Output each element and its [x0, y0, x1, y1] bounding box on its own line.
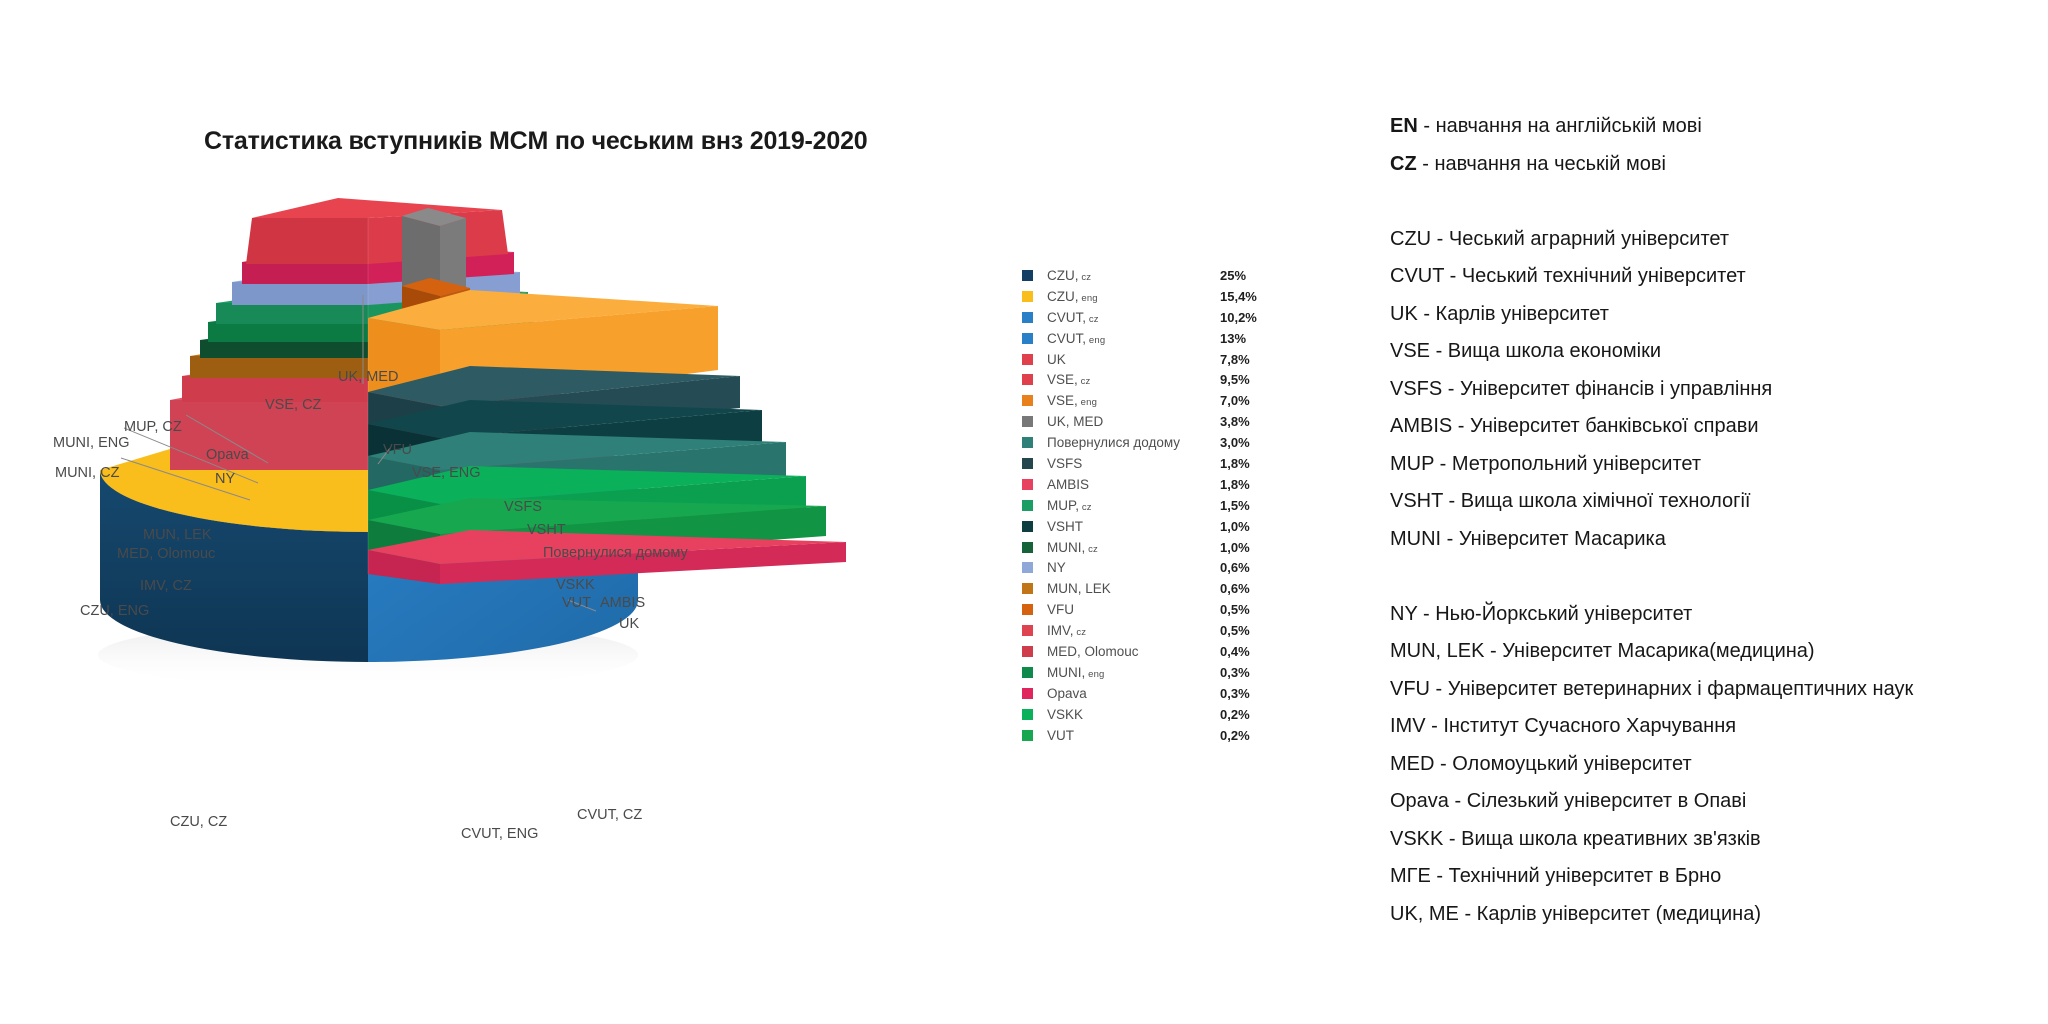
legend-label-suffix: eng	[1079, 293, 1098, 304]
legend-label: VUT	[1047, 728, 1220, 743]
abbreviation-line: CZ - навчання на чеській мові	[1390, 146, 2030, 184]
legend-label: Повернулися додому	[1047, 435, 1220, 450]
callout-label: UK, MED	[338, 370, 398, 385]
legend-value: 0,2%	[1220, 728, 1272, 743]
abbreviation-line: NY - Нью-Йоркський університет	[1390, 596, 2030, 634]
legend-value: 0,4%	[1220, 644, 1272, 659]
abbreviation-line: VSE - Вища школа економіки	[1390, 333, 2030, 371]
abbreviation-line: VSKK - Вища школа креативних зв'язків	[1390, 821, 2030, 859]
legend-label: VSKK	[1047, 707, 1220, 722]
legend-value: 0,3%	[1220, 686, 1272, 701]
legend-color-swatch	[1022, 395, 1033, 406]
legend-label: VSE, eng	[1047, 393, 1220, 408]
callout-label: MED, Olomouc	[117, 547, 215, 562]
callout-label: Opava	[206, 448, 249, 463]
abbreviation-key: CZ	[1390, 153, 1417, 175]
legend-row[interactable]: VSHT1,0%	[1022, 516, 1272, 537]
legend-label-suffix: eng	[1078, 397, 1097, 408]
abbreviation-line: Opava - Сілезький університет в Опаві	[1390, 783, 2030, 821]
legend-label: NY	[1047, 560, 1220, 575]
callout-label: CVUT, CZ	[577, 808, 642, 823]
legend-value: 0,6%	[1220, 560, 1272, 575]
legend-color-swatch	[1022, 688, 1033, 699]
legend-color-swatch	[1022, 479, 1033, 490]
legend-label: CVUT, cz	[1047, 310, 1220, 325]
legend-value: 10,2%	[1220, 310, 1272, 325]
legend-row[interactable]: VSE, cz9,5%	[1022, 369, 1272, 390]
legend-color-swatch	[1022, 604, 1033, 615]
legend-color-swatch	[1022, 354, 1033, 365]
legend-color-swatch	[1022, 333, 1033, 344]
legend-color-swatch	[1022, 291, 1033, 302]
legend-value: 13%	[1220, 331, 1272, 346]
legend-value: 1,0%	[1220, 540, 1272, 555]
legend-row[interactable]: CZU, eng15,4%	[1022, 286, 1272, 307]
legend-label-suffix: cz	[1074, 627, 1087, 638]
abbreviation-line: VSHT - Вища школа хімічної технології	[1390, 483, 2030, 521]
legend-row[interactable]: VUT0,2%	[1022, 725, 1272, 746]
legend-value: 0,5%	[1220, 602, 1272, 617]
legend-row[interactable]: MUNI, cz1,0%	[1022, 537, 1272, 558]
legend-row[interactable]: VSKK0,2%	[1022, 704, 1272, 725]
legend-value: 1,8%	[1220, 456, 1272, 471]
legend-value: 0,2%	[1220, 707, 1272, 722]
abbreviation-line: IMV - Інститут Сучасного Харчування	[1390, 708, 2030, 746]
legend-row[interactable]: MUP, cz1,5%	[1022, 495, 1272, 516]
abbreviation-line: MUP - Метропольний університет	[1390, 446, 2030, 484]
abbreviation-text: - навчання на чеській мові	[1417, 153, 1666, 175]
legend-label: VSFS	[1047, 456, 1220, 471]
legend-label: AMBIS	[1047, 477, 1220, 492]
callout-label: MUP, CZ	[124, 420, 182, 435]
legend-label: VFU	[1047, 602, 1220, 617]
abbreviation-line: MUNI - Університет Масарика	[1390, 521, 2030, 559]
legend-label: CZU, cz	[1047, 268, 1220, 283]
legend-label: VSHT	[1047, 519, 1220, 534]
abbreviation-text: - навчання на англійській мові	[1418, 115, 1702, 137]
legend-label: MUNI, eng	[1047, 665, 1220, 680]
legend-row[interactable]: VFU0,5%	[1022, 599, 1272, 620]
legend-row[interactable]: VSE, eng7,0%	[1022, 390, 1272, 411]
callout-label: VSE, ENG	[412, 466, 481, 481]
legend-label-suffix: cz	[1086, 314, 1099, 325]
legend-label: CZU, eng	[1047, 289, 1220, 304]
legend-row[interactable]: UK, MED3,8%	[1022, 411, 1272, 432]
legend-color-swatch	[1022, 374, 1033, 385]
abbreviation-line: UK, ME - Карлів університет (медицина)	[1390, 896, 2030, 934]
legend-row[interactable]: VSFS1,8%	[1022, 453, 1272, 474]
legend-color-swatch	[1022, 625, 1033, 636]
callout-label: MUN, LEK	[143, 528, 212, 543]
legend-color-swatch	[1022, 500, 1033, 511]
legend-row[interactable]: CVUT, cz10,2%	[1022, 307, 1272, 328]
abbreviation-line: VSFS - Університет фінансів і управління	[1390, 371, 2030, 409]
legend-value: 7,8%	[1220, 352, 1272, 367]
callout-label: VSHT	[527, 523, 566, 538]
panel-spacer	[1390, 558, 2030, 596]
legend-row[interactable]: CVUT, eng13%	[1022, 328, 1272, 349]
legend-value: 7,0%	[1220, 393, 1272, 408]
callout-label: NY	[215, 472, 235, 487]
legend-color-swatch	[1022, 730, 1033, 741]
legend-label-suffix: cz	[1079, 272, 1092, 283]
abbreviation-line: EN - навчання на англійській мові	[1390, 108, 2030, 146]
legend-color-swatch	[1022, 542, 1033, 553]
legend-row[interactable]: UK7,8%	[1022, 349, 1272, 370]
legend-row[interactable]: MED, Olomouc0,4%	[1022, 641, 1272, 662]
legend-value: 1,0%	[1220, 519, 1272, 534]
callout-label: IMV, CZ	[140, 579, 192, 594]
legend-label-suffix: eng	[1086, 335, 1105, 346]
legend-row[interactable]: Повернулися додому3,0%	[1022, 432, 1272, 453]
legend-color-swatch	[1022, 458, 1033, 469]
abbreviation-key: EN	[1390, 115, 1418, 137]
callout-label: MUNI, CZ	[55, 466, 119, 481]
legend-value: 15,4%	[1220, 289, 1272, 304]
abbreviation-line: MED - Оломоуцький університет	[1390, 746, 2030, 784]
panel-spacer	[1390, 183, 2030, 221]
callout-label: AMBIS	[600, 596, 645, 611]
legend-label: MUP, cz	[1047, 498, 1220, 513]
legend-label-suffix: cz	[1085, 544, 1098, 555]
callout-label: MUNI, ENG	[53, 436, 130, 451]
abbreviation-line: MUN, LEK - Університет Масарика(медицина…	[1390, 633, 2030, 671]
legend-row[interactable]: NY0,6%	[1022, 557, 1272, 578]
callout-label: VSFS	[504, 500, 542, 515]
legend-label-suffix: cz	[1078, 376, 1091, 387]
abbreviation-line: UK - Карлів університет	[1390, 296, 2030, 334]
legend-label: UK, MED	[1047, 414, 1220, 429]
legend-row[interactable]: AMBIS1,8%	[1022, 474, 1272, 495]
page-title: Статистика вступників MCM по чеським внз…	[204, 127, 868, 156]
legend-label-suffix: cz	[1079, 502, 1092, 513]
callout-label: UK	[619, 617, 639, 632]
legend-color-swatch	[1022, 646, 1033, 657]
legend-row[interactable]: CZU, cz25%	[1022, 265, 1272, 286]
legend-color-swatch	[1022, 562, 1033, 573]
legend-value: 3,8%	[1220, 414, 1272, 429]
legend-label: MUN, LEK	[1047, 581, 1220, 596]
legend-value: 1,8%	[1220, 477, 1272, 492]
callout-label: CVUT, ENG	[461, 827, 538, 842]
callout-label: CZU, ENG	[80, 604, 149, 619]
legend-color-swatch	[1022, 270, 1033, 281]
pie-chart-graphic[interactable]: UK, MED VSE, CZ MUP, CZ MUNI, ENG Opava …	[0, 170, 980, 890]
legend-value: 0,3%	[1220, 665, 1272, 680]
legend-label: VSE, cz	[1047, 372, 1220, 387]
legend-label-suffix: eng	[1085, 669, 1104, 680]
callout-label: VFU	[383, 443, 412, 458]
slab-vsecz	[246, 198, 508, 264]
legend-color-swatch	[1022, 521, 1033, 532]
legend-row[interactable]: MUNI, eng0,3%	[1022, 662, 1272, 683]
legend-color-swatch	[1022, 667, 1033, 678]
legend-color-swatch	[1022, 312, 1033, 323]
callout-label: CZU, CZ	[170, 815, 227, 830]
abbreviation-line: AMBIS - Університет банківської справи	[1390, 408, 2030, 446]
legend-label: Opava	[1047, 686, 1220, 701]
legend-row[interactable]: Opava0,3%	[1022, 683, 1272, 704]
callout-label: VUT	[562, 596, 591, 611]
legend-row[interactable]: IMV, cz0,5%	[1022, 620, 1272, 641]
abbreviation-line: CZU - Чеський аграрний університет	[1390, 221, 2030, 259]
chart-legend: CZU, cz25%CZU, eng15,4%CVUT, cz10,2%CVUT…	[1022, 265, 1272, 745]
legend-color-swatch	[1022, 416, 1033, 427]
legend-value: 3,0%	[1220, 435, 1272, 450]
legend-color-swatch	[1022, 583, 1033, 594]
legend-label: UK	[1047, 352, 1220, 367]
legend-value: 25%	[1220, 268, 1272, 283]
legend-label: MUNI, cz	[1047, 540, 1220, 555]
callout-label: Повернулися домому	[543, 546, 688, 561]
abbreviation-line: MГE - Технічний університет в Брно	[1390, 858, 2030, 896]
abbreviation-line: VFU - Університет ветеринарних і фармаце…	[1390, 671, 2030, 709]
legend-label: IMV, cz	[1047, 623, 1220, 638]
legend-label: CVUT, eng	[1047, 331, 1220, 346]
legend-value: 0,5%	[1220, 623, 1272, 638]
legend-color-swatch	[1022, 709, 1033, 720]
legend-label: MED, Olomouc	[1047, 644, 1220, 659]
legend-value: 9,5%	[1220, 372, 1272, 387]
callout-label: VSKK	[556, 578, 595, 593]
abbreviations-panel: EN - навчання на англійській мовіCZ - на…	[1390, 108, 2030, 933]
legend-value: 1,5%	[1220, 498, 1272, 513]
legend-value: 0,6%	[1220, 581, 1272, 596]
legend-row[interactable]: MUN, LEK0,6%	[1022, 578, 1272, 599]
legend-color-swatch	[1022, 437, 1033, 448]
callout-label: VSE, CZ	[265, 398, 321, 413]
abbreviation-line: CVUT - Чеський технічний університет	[1390, 258, 2030, 296]
